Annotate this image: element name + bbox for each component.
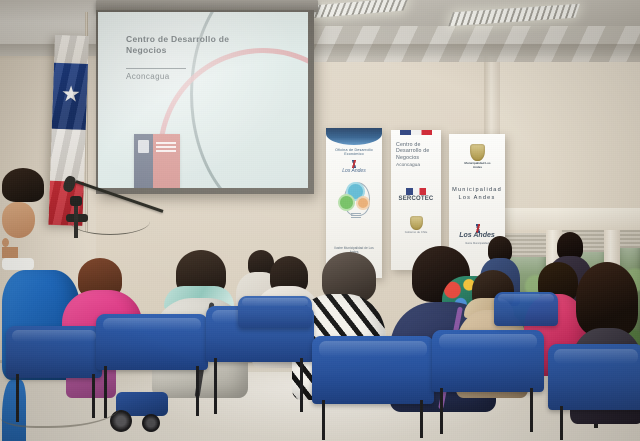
upper-right-wall xyxy=(492,52,640,212)
chair-back xyxy=(96,314,208,370)
banner-header-text: Oficina de Desarrollo Económico xyxy=(330,148,378,157)
chair-leg xyxy=(300,358,303,412)
microphone-stand-joint xyxy=(70,196,82,206)
chair-leg xyxy=(196,366,199,416)
banner-title: Centro de Desarrollo de Negocios xyxy=(396,142,438,161)
chair-back xyxy=(312,336,434,404)
banner-wave-graphic xyxy=(326,128,382,145)
presenter-ear xyxy=(2,238,9,247)
lightbulb-gears-icon xyxy=(338,180,372,222)
los-andes-mountain-icon xyxy=(342,160,366,168)
chile-crest-icon xyxy=(410,216,423,230)
chair-leg xyxy=(440,388,443,434)
chair-back xyxy=(6,326,102,378)
chair-leg xyxy=(322,400,325,440)
window-header-beam xyxy=(496,208,640,230)
chair-back xyxy=(548,344,640,410)
banner-footer-text: Gobierno de Chile xyxy=(396,231,436,234)
chair-back xyxy=(238,296,312,328)
chair-back xyxy=(494,292,558,326)
presenter-collar xyxy=(2,258,34,270)
photograph-scene: Centro de Desarrollo de Negocios Aconcag… xyxy=(0,0,640,441)
projection-screen: Centro de Desarrollo de Negocios Aconcag… xyxy=(98,12,308,188)
stroller-wheel-icon xyxy=(142,414,160,432)
slide-divider xyxy=(126,68,186,69)
gobierno-de-chile-logo-icon xyxy=(134,134,180,188)
slide-title: Centro de Desarrollo de Negocios xyxy=(126,34,234,55)
chair-leg xyxy=(214,358,217,414)
chair-leg xyxy=(420,400,423,438)
chair-leg xyxy=(560,406,563,440)
presenter-hair xyxy=(2,168,44,202)
microphone-cable xyxy=(70,208,150,235)
presenter-neck xyxy=(2,247,18,258)
banner-crest-caption: Municipalidad Los Andes xyxy=(462,162,493,169)
presenter-face xyxy=(2,202,35,238)
banner-logo-text: Los Andes xyxy=(336,168,372,174)
sercotec-logo-text: SERCOTEC xyxy=(395,196,437,202)
slide-subtitle: Aconcagua xyxy=(126,72,170,81)
chile-flag-bar-icon xyxy=(406,188,426,195)
banner-title: Municipalidad Los Andes xyxy=(452,186,502,202)
banner-subtitle: Aconcagua xyxy=(396,163,438,168)
chair-back xyxy=(432,330,544,392)
chile-flag-bar-icon xyxy=(400,130,432,135)
attendee-hair xyxy=(576,262,638,336)
chile-crest-icon xyxy=(138,140,149,153)
chair-leg xyxy=(530,388,533,432)
municipal-coat-of-arms-icon xyxy=(470,144,485,161)
